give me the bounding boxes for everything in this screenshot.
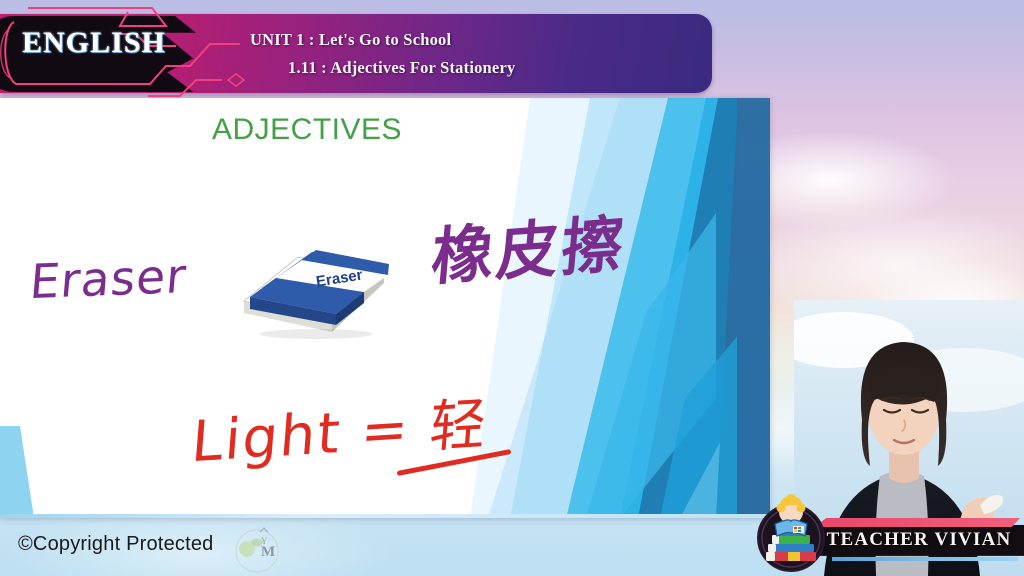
slide-corner-wedge	[0, 426, 34, 518]
svg-text:M: M	[261, 544, 275, 560]
slide-facet-decoration	[470, 98, 770, 518]
header-unit-line: UNIT 1 : Let's Go to School	[250, 30, 704, 50]
header-title-group: UNIT 1 : Let's Go to School 1.11 : Adjec…	[250, 14, 704, 93]
header-lesson-line: 1.11 : Adjectives For Stationery	[288, 58, 704, 78]
subject-badge-label: ENGLISH	[22, 26, 166, 60]
slide-bottom-edge	[0, 514, 770, 518]
slide-right-border	[737, 98, 770, 518]
copyright-watermark-logo: M Y	[228, 524, 282, 576]
eraser-photo: Eraser	[236, 235, 389, 339]
svg-text:Y: Y	[261, 536, 268, 546]
handwritten-chinese-word: 橡皮擦	[428, 193, 630, 297]
copyright-text: ©Copyright Protected	[18, 533, 214, 556]
boy-reading-logo-icon	[748, 490, 834, 576]
handwritten-english-word: Eraser	[28, 249, 189, 310]
slide-title: ADJECTIVES	[212, 113, 402, 147]
